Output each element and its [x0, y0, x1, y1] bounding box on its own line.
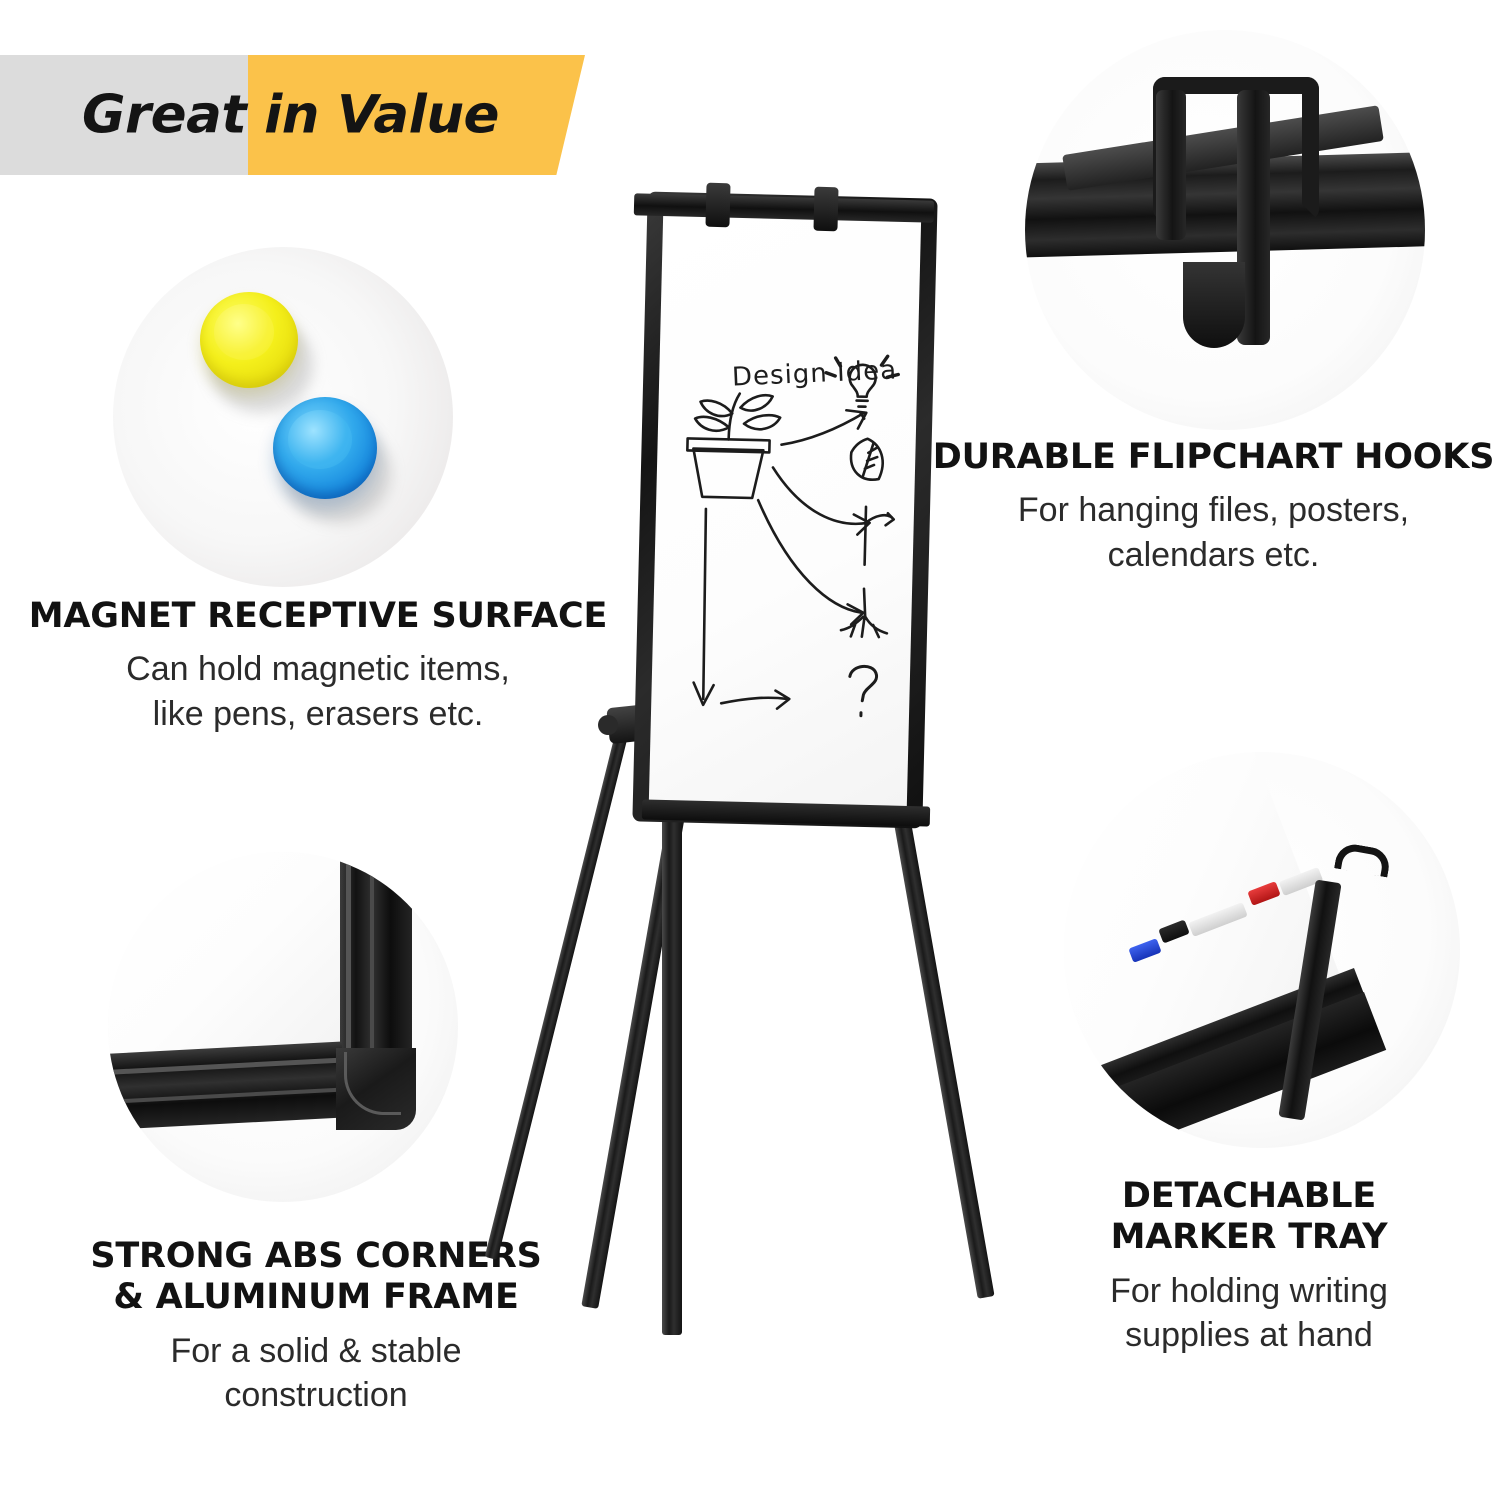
arrow-to-roots [755, 500, 866, 625]
banner-title: Great in Value [82, 85, 499, 146]
callout-description-line1: For holding writing [1014, 1269, 1484, 1314]
callout-description-line2: construction [36, 1373, 596, 1418]
whiteboard-easel-product: Design Idea [470, 175, 1030, 1355]
arrow-to-branch [771, 467, 871, 534]
hook-tip-icon [1183, 262, 1245, 348]
callout-title-line2: MARKER TRAY [1014, 1217, 1484, 1258]
arrow-to-leaf [782, 409, 867, 447]
down-arrow [693, 509, 718, 705]
banner-title-emphasis: in Value [264, 85, 499, 146]
product-feature-infographic: Great in Value MAGNET RECEPTIVE SURFACE … [0, 0, 1497, 1497]
easel-rear-leg-right [890, 799, 994, 1299]
frame-groove-b [370, 852, 374, 1058]
tray-hook-tip-icon [1334, 842, 1392, 878]
frame-groove-a [346, 852, 351, 1058]
yellow-magnet-icon [200, 292, 298, 388]
callout-detachable-marker-tray: DETACHABLE MARKER TRAY For holding writi… [1014, 1176, 1484, 1358]
whiteboard-sketch [470, 175, 1030, 835]
potted-plant-icon [686, 392, 781, 498]
roots-icon [841, 588, 888, 637]
callout-description-line2: supplies at hand [1014, 1313, 1484, 1358]
marker-tray-detail-circle [1064, 752, 1460, 1148]
leaf-icon [850, 438, 883, 480]
flipchart-hook-detail-circle [1025, 30, 1425, 430]
right-arrow [721, 689, 789, 709]
board-surface-fragment [108, 852, 353, 1054]
callout-title: DETACHABLE MARKER TRAY [1014, 1176, 1484, 1259]
hook-inner-stem-icon [1156, 90, 1186, 240]
callout-title-line1: DETACHABLE [1014, 1176, 1484, 1217]
sprout-branch-icon [865, 507, 894, 566]
frame-bar-horizontal [108, 1042, 346, 1131]
great-in-value-banner: Great in Value [0, 55, 585, 175]
question-mark-icon [849, 666, 877, 716]
blue-magnet-icon [273, 397, 377, 499]
callout-description: For holding writing supplies at hand [1014, 1269, 1484, 1359]
magnets-detail-circle [113, 247, 453, 587]
banner-title-plain: Great [82, 85, 246, 146]
abs-corner-detail-circle [108, 852, 458, 1202]
